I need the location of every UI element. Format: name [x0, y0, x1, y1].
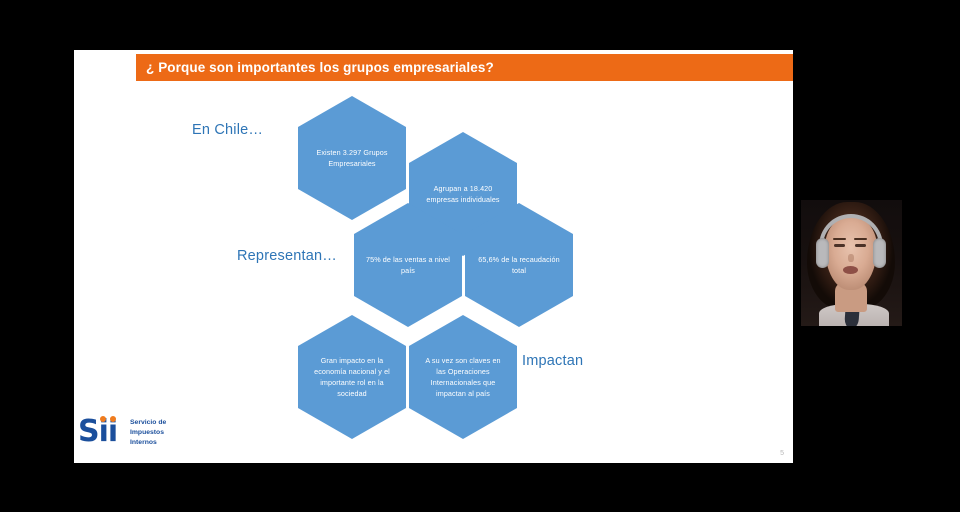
sii-logo-wordmark: Servicio de Impuestos Internos: [130, 418, 166, 448]
sii-logo: Sii Servicio de Impuestos Internos: [78, 417, 166, 449]
hexagon-text: 75% de las ventas a nivel país: [354, 254, 462, 276]
label-impactan: Impactan: [522, 353, 583, 369]
webcam-video-feed[interactable]: [801, 200, 902, 326]
headphone-earcup-left-icon: [816, 238, 829, 268]
hexagon-impacto-economia: Gran impacto en la economía nacional y e…: [298, 315, 406, 439]
hexagon-text: Gran impacto en la economía nacional y e…: [298, 355, 406, 400]
logo-line-1: Servicio de: [130, 418, 166, 428]
hexagon-grupos-empresariales: Existen 3.297 Grupos Empresariales: [298, 96, 406, 220]
webcam-mouth: [843, 266, 858, 274]
webcam-nose: [848, 254, 854, 262]
hexagon-operaciones-internacionales: A su vez son claves en las Operaciones I…: [409, 315, 517, 439]
slide-canvas: ¿ Porque son importantes los grupos empr…: [74, 50, 793, 463]
label-representan: Representan…: [237, 248, 337, 264]
headphone-earcup-right-icon: [873, 238, 886, 268]
logo-dot-icon: [110, 416, 116, 422]
hexagon-text: 65,6% de la recaudación total: [465, 254, 573, 276]
presentation-screen: ¿ Porque son importantes los grupos empr…: [0, 0, 960, 512]
hexagon-text: Agrupan a 18.420 empresas individuales: [409, 183, 517, 205]
slide-page-number: 5: [780, 450, 784, 457]
sii-logo-mark-icon: Sii: [78, 417, 124, 449]
logo-line-2: Impuestos: [130, 428, 166, 438]
hexagon-text: Existen 3.297 Grupos Empresariales: [298, 147, 406, 169]
label-en-chile: En Chile…: [192, 122, 263, 138]
hexagon-text: A su vez son claves en las Operaciones I…: [409, 355, 517, 400]
page-title: ¿ Porque son importantes los grupos empr…: [136, 60, 494, 75]
slide-title-bar: ¿ Porque son importantes los grupos empr…: [136, 54, 793, 81]
logo-line-3: Internos: [130, 438, 166, 448]
logo-dot-icon: [100, 416, 106, 422]
